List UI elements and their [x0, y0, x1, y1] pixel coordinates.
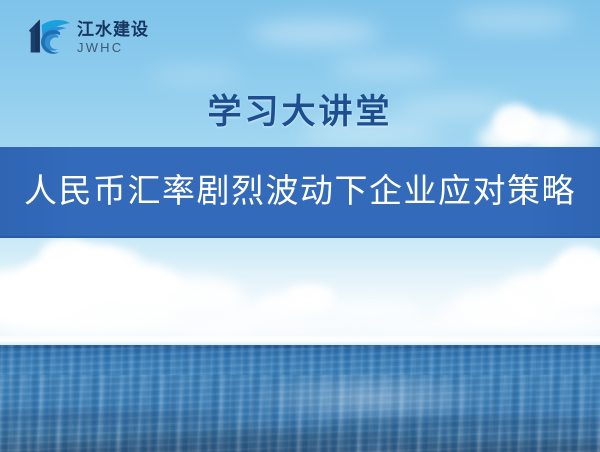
cloud-streak: [60, 318, 240, 326]
jwhc-wave-monogram-icon: [26, 14, 72, 58]
page-title: 学习大讲堂: [0, 84, 600, 133]
horizon-glow: [0, 336, 600, 345]
logo-wordmark: 江水建设 JWHC: [77, 19, 149, 54]
cloud-puff: [556, 246, 600, 282]
poster-canvas: 江水建设 JWHC 学习大讲堂 人民币汇率剧烈波动下企业应对策略: [0, 0, 600, 452]
cloud-puff: [324, 300, 420, 320]
cloud-puff: [286, 284, 334, 306]
wave-swell: [380, 441, 600, 452]
logo-company-name-cn: 江水建设: [77, 21, 149, 38]
cloud-puff: [96, 248, 142, 278]
company-logo: 江水建设 JWHC: [26, 12, 176, 60]
banner-title-text: 人民币汇率剧烈波动下企业应对策略: [24, 176, 576, 209]
logo-company-name-en: JWHC: [77, 41, 149, 54]
cloud-wisp: [150, 66, 240, 84]
title-banner: 人民币汇率剧烈波动下企业应对策略: [0, 147, 600, 238]
cloud-wisp: [455, 8, 575, 32]
cloud-puff: [40, 238, 94, 272]
cloud-wisp: [250, 20, 380, 46]
wave-swell: [20, 443, 360, 452]
cloud-streak: [380, 324, 600, 336]
cloud-wisp: [330, 58, 440, 78]
cloud-streak: [440, 312, 600, 321]
ocean-background: [0, 345, 600, 452]
